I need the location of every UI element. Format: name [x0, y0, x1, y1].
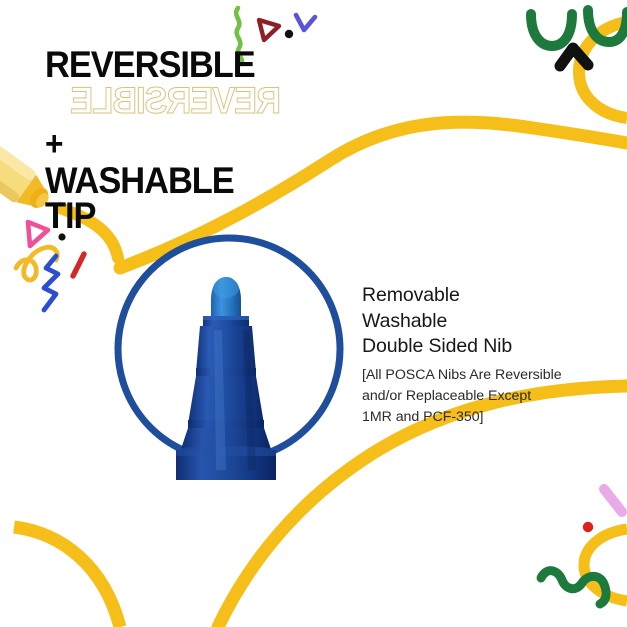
feature-subtext-line-3: 1MR and PCF-350] [362, 407, 587, 428]
feature-heading-line-1: Removable [362, 283, 587, 309]
red-triangle-icon [259, 20, 279, 40]
purple-chevron-icon [296, 15, 315, 30]
headline-plus: + [45, 127, 352, 161]
feature-heading: Removable Washable Double Sided Nib [362, 283, 587, 360]
blue-posca-marker-nib [176, 277, 276, 480]
headline-washable: WASHABLE [45, 163, 352, 198]
poster-canvas: REVERSIBLE REVERSIBLE + WASHABLE TIP Rem… [0, 0, 627, 627]
feature-copy-block: Removable Washable Double Sided Nib [All… [362, 283, 587, 428]
feature-heading-line-2: Washable [362, 309, 587, 335]
red-dash-icon [73, 254, 84, 276]
headline-reversible-mirror: REVERSIBLE [194, 84, 281, 118]
lilac-stroke-icon [604, 489, 622, 512]
feature-heading-line-3: Double Sided Nib [362, 334, 587, 360]
headline-block: REVERSIBLE REVERSIBLE + WASHABLE TIP [45, 48, 375, 233]
green-wave-left-icon [531, 14, 572, 46]
feature-subtext-line-1: [All POSCA Nibs Are Reversible [362, 365, 587, 386]
black-dot-icon [285, 30, 293, 38]
yellow-arc-bottom-left [14, 527, 120, 627]
feature-subtext: [All POSCA Nibs Are Reversible and/or Re… [362, 365, 587, 428]
headline-tip: TIP [45, 198, 352, 233]
blue-zigzag-icon [44, 256, 58, 310]
feature-subtext-line-2: and/or Replaceable Except [362, 386, 587, 407]
headline-reversible: REVERSIBLE [45, 48, 352, 82]
red-dot-icon [583, 522, 593, 532]
